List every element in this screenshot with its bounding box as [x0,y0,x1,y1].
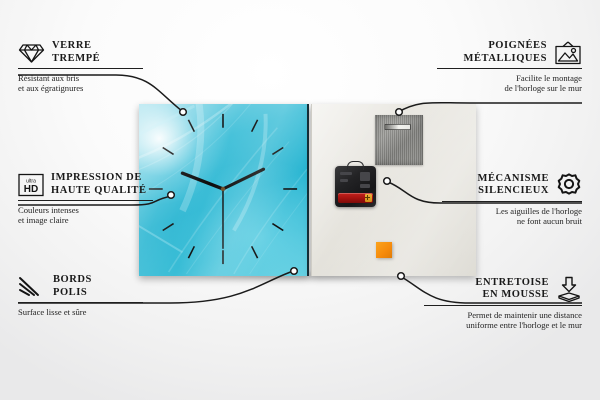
callout-divider [18,68,143,69]
callout-poignees-metalliques: POIGNÉES MÉTALLIQUES Facilite le montage… [437,40,582,94]
hour-hand [182,173,223,189]
diagonal-lines-icon [18,276,46,298]
gear-icon [556,172,582,198]
mechanism-detail [360,172,370,181]
clock-front-panel [139,104,309,276]
callout-subtitle: Couleurs intenses et image claire [18,205,153,226]
callout-header: ENTRETOISE EN MOUSSE [424,276,582,302]
callout-header: MÉCANISME SILENCIEUX [442,172,582,198]
callout-title: ENTRETOISE EN MOUSSE [475,277,549,302]
mechanism-detail [340,179,348,182]
battery [338,193,373,203]
callout-title: BORDS POLIS [53,274,92,299]
callout-header: VERRE TREMPÉ [18,40,143,65]
callout-subtitle: Surface lisse et sûre [18,307,143,318]
callout-subtitle: Facilite le montage de l'horloge sur le … [437,73,582,94]
infographic-stage: VERRE TREMPÉ Résistant aux bris et aux é… [0,0,600,400]
callout-divider [18,200,153,201]
picture-frame-icon [554,41,582,65]
foam-spacer [376,242,392,258]
callout-verre-trempe: VERRE TREMPÉ Résistant aux bris et aux é… [18,40,143,94]
callout-divider [18,302,143,303]
callout-mecanisme-silencieux: MÉCANISME SILENCIEUX Les aiguilles de l'… [442,172,582,227]
callout-header: ultra HD IMPRESSION DE HAUTE QUALITÉ [18,172,153,197]
callout-title: VERRE TREMPÉ [52,40,100,65]
callout-entretoise-en-mousse: ENTRETOISE EN MOUSSE Permet de maintenir… [424,276,582,331]
hanger-keyhole-slot [384,124,411,130]
clock-center-cap [221,187,225,191]
arrow-down-pad-icon [556,276,582,302]
battery-plus-sign [367,195,368,200]
minute-hand [223,169,264,189]
callout-title: IMPRESSION DE HAUTE QUALITÉ [51,172,147,197]
callout-subtitle: Permet de maintenir une distance uniform… [424,310,582,331]
callout-subtitle: Les aiguilles de l'horloge ne font aucun… [442,206,582,227]
callout-bords-polis: BORDS POLIS Surface lisse et sûre [18,274,143,317]
callout-divider [424,305,582,306]
metal-hanger-plate [375,115,423,165]
clock-mechanism-box [335,166,376,207]
mechanism-detail [360,184,370,188]
callout-header: POIGNÉES MÉTALLIQUES [437,40,582,65]
callout-divider [442,201,582,202]
ultra-hd-icon-main-text: HD [24,184,38,195]
diamond-icon [18,42,45,64]
ultra-hd-icon: ultra HD [18,173,44,197]
callout-header: BORDS POLIS [18,274,143,299]
callout-title: MÉCANISME SILENCIEUX [478,173,549,198]
mechanism-detail [340,172,352,175]
mechanism-hanging-loop [347,161,364,170]
callout-subtitle: Résistant aux bris et aux égratignures [18,73,143,94]
callout-title: POIGNÉES MÉTALLIQUES [464,40,547,65]
callout-impression-haute-qualite: ultra HD IMPRESSION DE HAUTE QUALITÉ Cou… [18,172,153,226]
clock-dial [139,104,307,274]
product-image [139,104,476,276]
callout-divider [437,68,582,69]
